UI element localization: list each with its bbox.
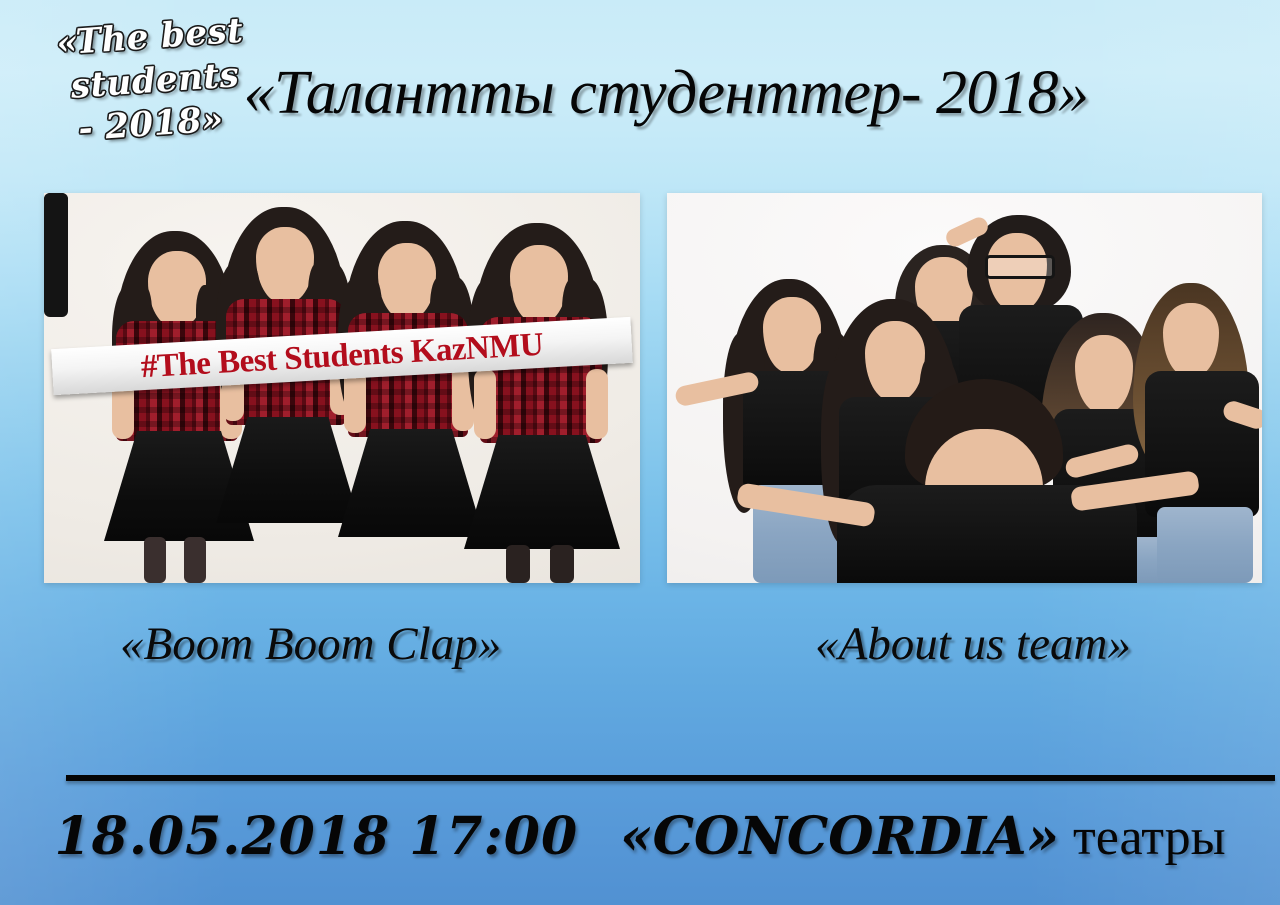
student-figure-3 — [44, 193, 68, 289]
footer-bar: 18.05.2018 17:00 «CONCORDIA» театры — [0, 806, 1280, 867]
poster-title: «Талантты студенттер- 2018» — [0, 62, 1280, 124]
event-poster: «The best students - 2018» «Талантты сту… — [0, 0, 1280, 905]
venue-name: «CONCORDIA» — [620, 806, 1059, 867]
photo-boom-boom-clap: #The Best Students KazNMU — [44, 193, 640, 583]
photo-backdrop-left: #The Best Students KazNMU — [44, 193, 640, 583]
divider-line — [66, 775, 1275, 781]
photo-about-us-team — [667, 193, 1262, 583]
photo-caption-right: «About us team» — [815, 617, 1131, 671]
photo-caption-left: «Boom Boom Clap» — [120, 617, 501, 671]
event-datetime: 18.05.2018 17:00 — [54, 806, 578, 867]
photo-backdrop-right — [667, 193, 1262, 583]
venue-type: театры — [1073, 808, 1225, 867]
